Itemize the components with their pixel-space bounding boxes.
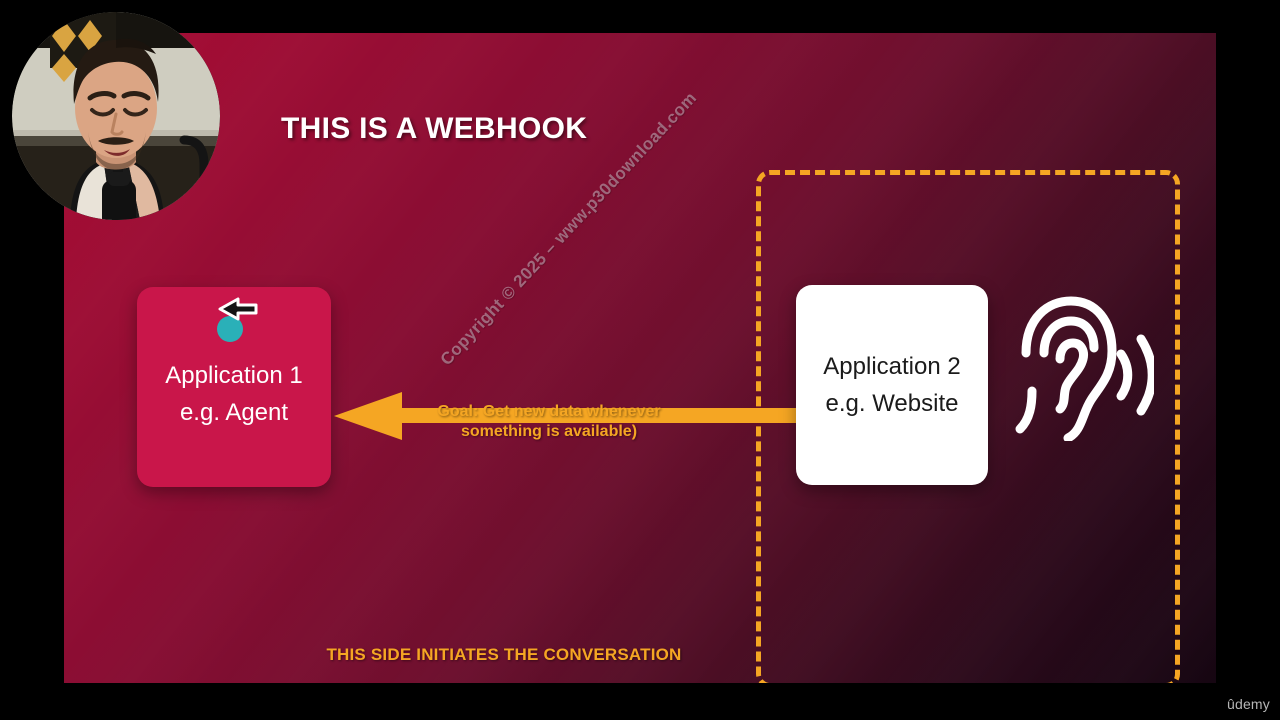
- arrow-goal-label-line2: something is available): [369, 422, 729, 442]
- slide-canvas: THIS IS A WEBHOOK Application 1 e.g. Age…: [64, 33, 1216, 683]
- page-title: THIS IS A WEBHOOK: [281, 112, 587, 146]
- udemy-logo: ûdemy: [1227, 696, 1270, 712]
- application-2-box: Application 2 e.g. Website: [796, 285, 988, 485]
- arrow-goal-label: Goal: Get new data whenever something is…: [369, 402, 729, 441]
- side-initiates-caption: THIS SIDE INITIATES THE CONVERSATION: [264, 645, 744, 665]
- mouse-pointer-left-arrow-icon: [208, 296, 268, 346]
- application-2-label-line2: e.g. Website: [826, 385, 959, 422]
- presenter-webcam-overlay: [12, 12, 220, 220]
- application-2-label-line1: Application 2: [823, 348, 960, 385]
- presenter-webcam-image: [12, 12, 220, 220]
- application-1-label-line2: e.g. Agent: [180, 394, 288, 431]
- ear-listening-icon: [1008, 291, 1154, 441]
- application-1-label-line1: Application 1: [165, 357, 302, 394]
- video-player-stage: THIS IS A WEBHOOK Application 1 e.g. Age…: [0, 0, 1280, 720]
- arrow-goal-label-line1: Goal: Get new data whenever: [369, 402, 729, 422]
